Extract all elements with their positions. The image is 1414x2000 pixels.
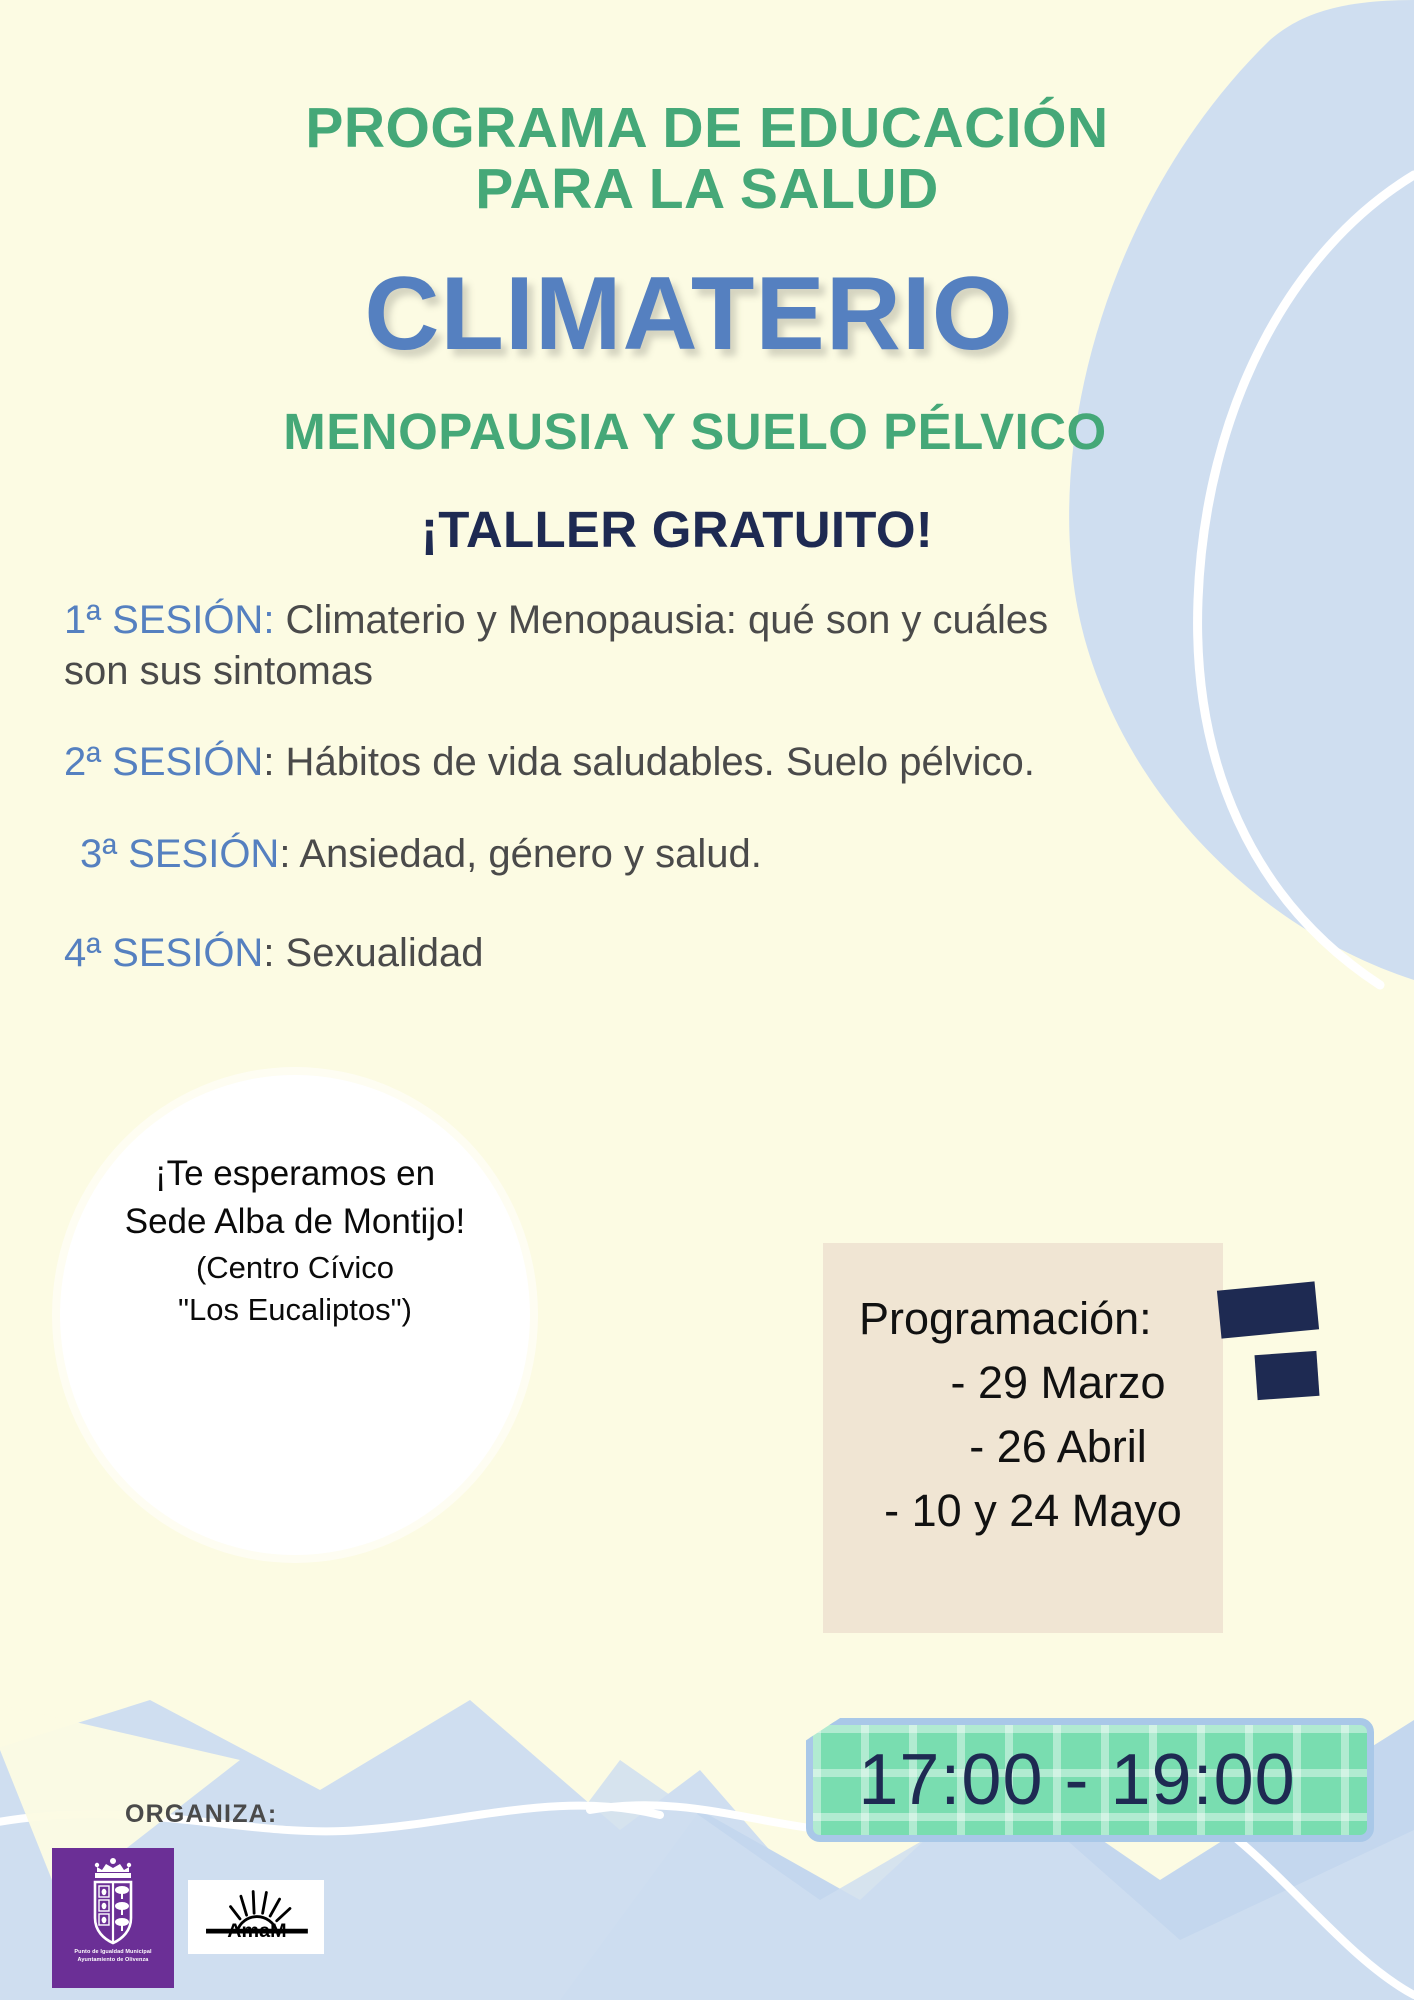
olivenza-logo-caption: Punto de Igualdad Municipal Ayuntamiento… xyxy=(74,1949,151,1965)
navy-accent-mark-bottom xyxy=(1255,1351,1320,1400)
list-item: 4ª SESIÓN: Sexualidad xyxy=(64,928,1064,979)
kicker-line-2: PARA LA SALUD xyxy=(120,159,1294,220)
page-title: CLIMATERIO xyxy=(0,262,1414,366)
poster-canvas: PROGRAMA DE EDUCACIÓN PARA LA SALUD CLIM… xyxy=(0,0,1414,2000)
list-item: 3ª SESIÓN: Ansiedad, género y salud. xyxy=(64,829,1064,880)
list-item: 2ª SESIÓN: Hábitos de vida saludables. S… xyxy=(64,737,1064,788)
free-workshop-banner: ¡TALLER GRATUITO! xyxy=(0,500,1414,559)
session-4-tag: 4ª SESIÓN xyxy=(64,931,263,975)
schedule-date-1: - 29 Marzo xyxy=(841,1351,1215,1415)
session-2-text: : Hábitos de vida saludables. Suelo pélv… xyxy=(263,740,1035,784)
amam-wordmark: AmaM xyxy=(227,1920,286,1942)
session-3-tag: 3ª SESIÓN xyxy=(80,832,279,876)
schedule-date-2: - 26 Abril xyxy=(841,1415,1215,1479)
kicker-line-1: PROGRAMA DE EDUCACIÓN xyxy=(305,96,1108,160)
sunrise-icon: AmaM xyxy=(193,1884,319,1950)
list-item: 1ª SESIÓN: Climaterio y Menopausia: qué … xyxy=(64,595,1064,697)
olivenza-logo: Punto de Igualdad Municipal Ayuntamiento… xyxy=(52,1848,174,1988)
schedule-panel: Programación: - 29 Marzo - 26 Abril - 10… xyxy=(823,1243,1223,1633)
schedule-date-3: - 10 y 24 Mayo xyxy=(841,1479,1215,1543)
session-2-tag: 2ª SESIÓN xyxy=(64,740,263,784)
coat-of-arms-icon xyxy=(84,1855,142,1947)
navy-accent-mark-top xyxy=(1217,1281,1319,1338)
time-badge-label: 17:00 - 19:00 xyxy=(806,1718,1374,1842)
session-4-text: : Sexualidad xyxy=(263,931,483,975)
organiza-label: ORGANIZA: xyxy=(125,1800,277,1829)
venue-line-3: (Centro Cívico xyxy=(35,1247,555,1290)
venue-info: ¡Te esperamos en Sede Alba de Montijo! (… xyxy=(35,1150,555,1332)
venue-line-1: ¡Te esperamos en xyxy=(35,1150,555,1198)
amam-logo: AmaM xyxy=(188,1880,324,1954)
schedule-title: Programación: xyxy=(841,1287,1215,1351)
venue-line-4: "Los Eucaliptos") xyxy=(35,1289,555,1332)
olivenza-caption-line-2: Ayuntamiento de Olivenza xyxy=(74,1957,151,1965)
venue-line-2: Sede Alba de Montijo! xyxy=(35,1198,555,1246)
session-3-text: : Ansiedad, género y salud. xyxy=(279,832,762,876)
session-1-tag: 1ª SESIÓN: xyxy=(64,598,274,642)
page-kicker: PROGRAMA DE EDUCACIÓN PARA LA SALUD xyxy=(0,98,1414,220)
sessions-list: 1ª SESIÓN: Climaterio y Menopausia: qué … xyxy=(64,595,1064,979)
olivenza-caption-line-1: Punto de Igualdad Municipal xyxy=(74,1949,151,1957)
page-subtitle: MENOPAUSIA Y SUELO PÉLVICO xyxy=(0,402,1414,461)
